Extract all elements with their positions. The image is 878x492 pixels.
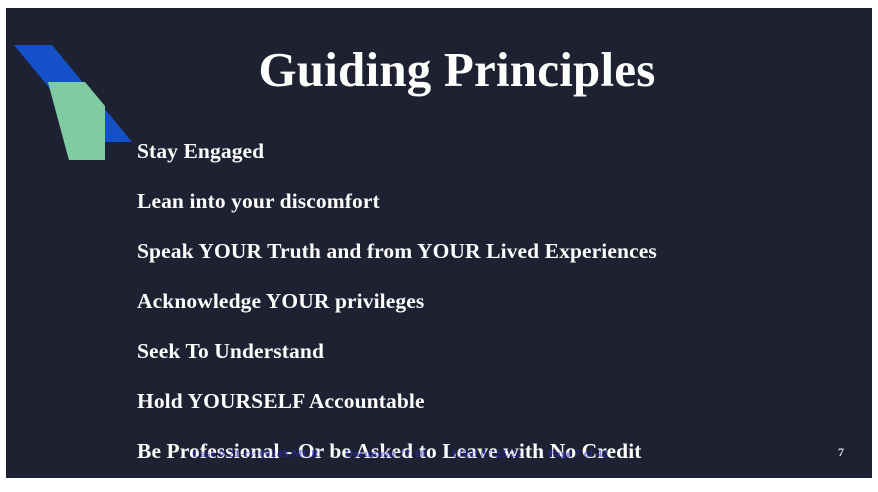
page-number: 7 [838,445,844,460]
list-item: Acknowledge YOUR privileges [137,276,852,326]
principles-list: Stay Engaged Lean into your discomfort S… [137,126,852,476]
slide-canvas: Guiding Principles Stay Engaged Lean int… [0,0,878,492]
list-item: Stay Engaged [137,126,852,176]
list-item: Be Professional - Or be Asked to Leave w… [137,426,852,476]
list-item: Speak YOUR Truth and from YOUR Lived Exp… [137,226,852,276]
list-item: Hold YOURSELF Accountable [137,376,852,426]
page-title: Guiding Principles [6,44,872,97]
list-item: Lean into your discomfort [137,176,852,226]
presentation-slide: Guiding Principles Stay Engaged Lean int… [6,8,872,478]
list-item: Seek To Understand [137,326,852,376]
